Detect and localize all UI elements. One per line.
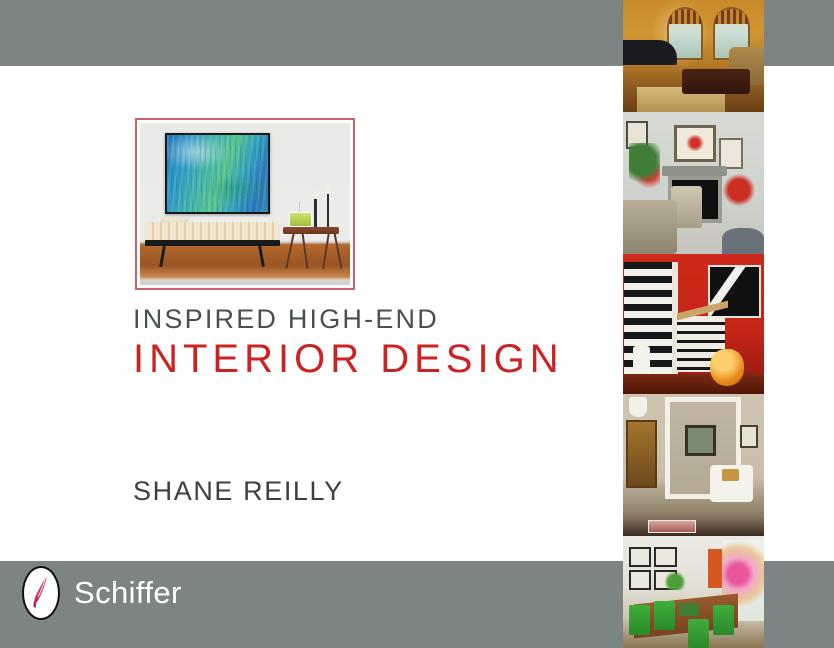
cover-photo-frame (135, 118, 355, 290)
photo-strip (623, 0, 764, 648)
daybed-leg (159, 246, 165, 267)
strip-photo-modern-dining-room (623, 536, 764, 648)
orange-accent-panel (708, 549, 722, 587)
framed-art (654, 547, 676, 567)
flower-arrangement (629, 143, 660, 191)
framed-art (629, 570, 651, 590)
framed-art (674, 125, 716, 162)
daybed-leg (258, 246, 264, 267)
stacked-books (648, 520, 696, 533)
pedestal-table (633, 346, 650, 377)
potted-plant (665, 570, 685, 590)
framed-art (740, 425, 758, 448)
quill-pen-icon (31, 575, 50, 611)
strip-photo-tuscan-living-room (623, 0, 764, 112)
schiffer-logo-oval (22, 566, 60, 620)
gold-cushion (722, 469, 739, 480)
green-dining-chair (688, 619, 709, 648)
flower-arrangement (722, 174, 756, 205)
green-dining-chair (713, 605, 734, 634)
amber-glass-vessel (710, 349, 744, 385)
candlestick (327, 193, 330, 229)
ottoman (722, 228, 764, 254)
publisher-name: Schiffer (74, 575, 182, 611)
green-dining-chair (629, 605, 650, 634)
book-cover: INSPIRED HIGH-END INTERIOR DESIGN SHANE … (0, 0, 834, 648)
side-table-leg (334, 233, 343, 268)
grand-piano (623, 40, 677, 65)
strip-photo-neutral-living-room (623, 394, 764, 536)
publisher-block: Schiffer (22, 566, 182, 620)
candlestick (314, 198, 317, 229)
strip-photo-fireplace-living-room (623, 112, 764, 254)
author-name: SHANE REILLY (133, 476, 344, 507)
wood-floor (623, 374, 764, 394)
cover-photo-mid-century-living-room (140, 123, 350, 285)
side-table-top (283, 227, 340, 234)
abstract-painting (165, 133, 270, 214)
side-table-leg (301, 233, 308, 269)
antique-cabinet (626, 420, 657, 488)
framed-art (719, 138, 743, 169)
green-table-lamp (289, 212, 312, 227)
carved-coffee-table (682, 69, 750, 94)
wall-mirror (685, 425, 716, 456)
daybed-cushion (146, 222, 278, 240)
green-dining-chair (654, 601, 675, 630)
framed-art (629, 547, 651, 567)
side-table-leg (322, 233, 330, 268)
vase (629, 397, 647, 417)
book-subtitle: INSPIRED HIGH-END (133, 305, 553, 333)
sofa (623, 200, 677, 254)
table-centerpiece (679, 603, 699, 615)
title-block: INSPIRED HIGH-END INTERIOR DESIGN (133, 305, 553, 382)
side-table-leg (285, 233, 294, 268)
strip-photo-red-entry-staircase (623, 254, 764, 394)
book-title: INTERIOR DESIGN (133, 337, 553, 382)
fireplace-mantel (662, 166, 727, 176)
